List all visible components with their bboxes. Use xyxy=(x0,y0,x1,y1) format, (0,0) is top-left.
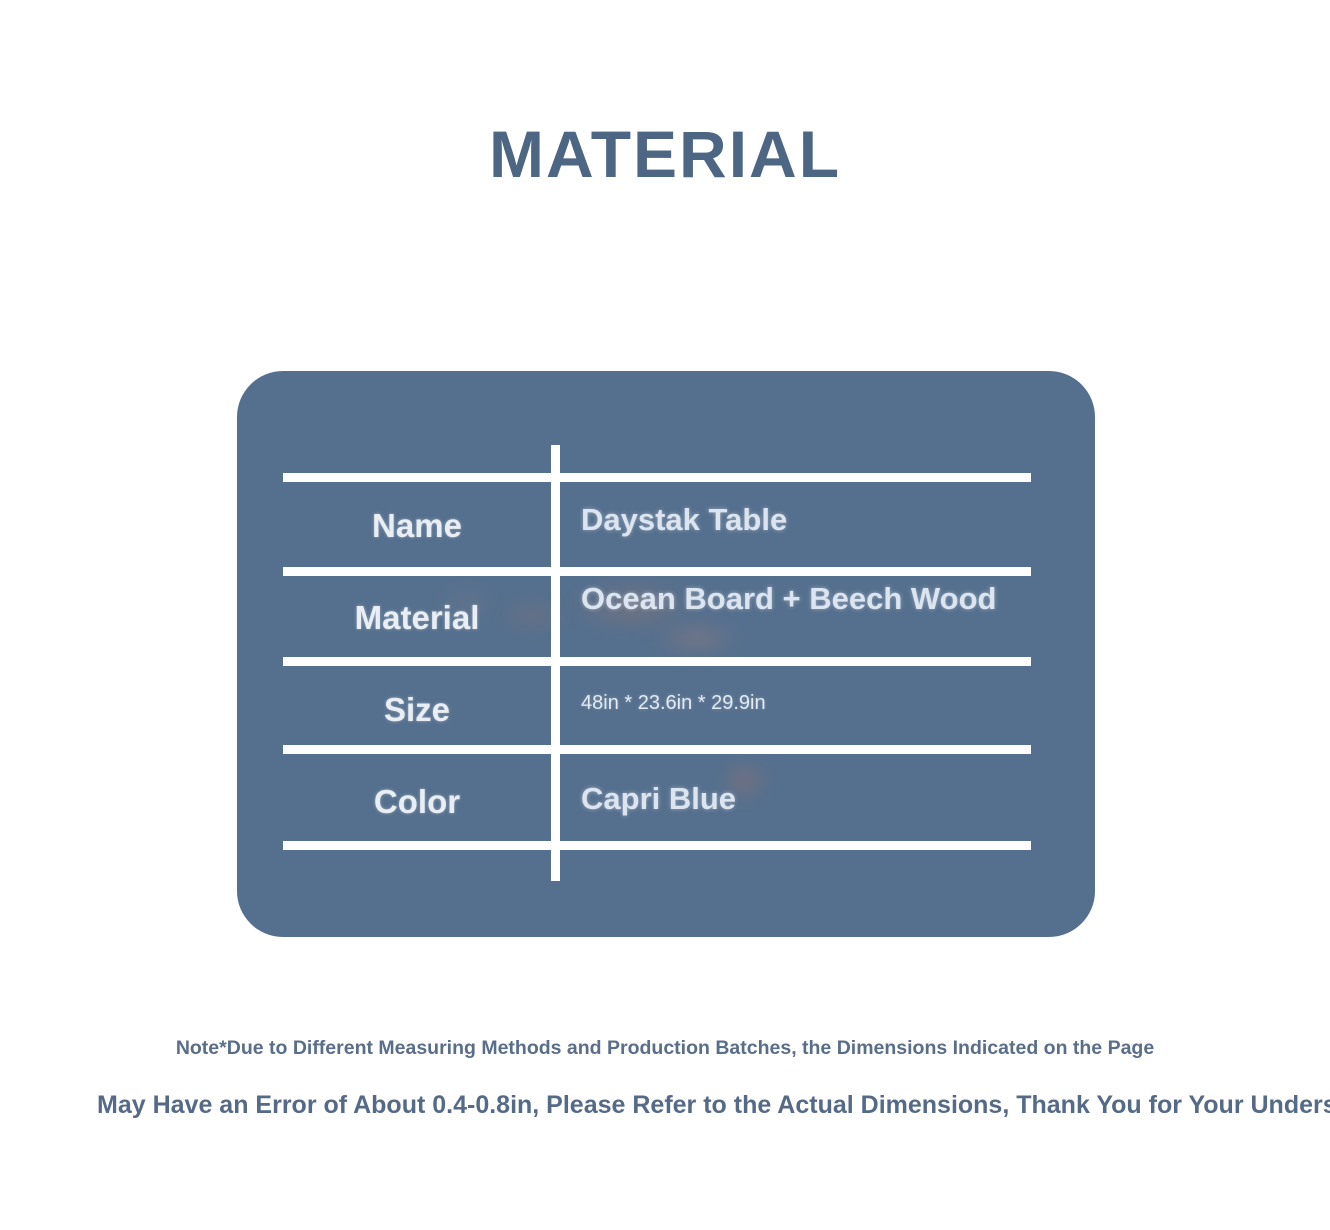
spec-row-value-material: Ocean Board + Beech Wood xyxy=(581,583,1051,614)
note-line-2: May Have an Error of About 0.4-0.8in, Pl… xyxy=(97,1091,1330,1120)
spec-row-label-name: Name xyxy=(283,507,551,545)
table-rule xyxy=(283,657,1031,666)
spec-card: Name Daystak Table Material Ocean Board … xyxy=(237,371,1095,937)
table-rule xyxy=(283,841,1031,850)
spec-row-label-material: Material xyxy=(283,599,551,637)
spec-row-value-color: Capri Blue xyxy=(581,783,1051,814)
spec-row-value-name: Daystak Table xyxy=(581,504,1051,535)
table-rule xyxy=(283,473,1031,482)
table-rule xyxy=(283,745,1031,754)
ghost-artifact xyxy=(652,616,742,661)
page-title: MATERIAL xyxy=(0,118,1330,191)
spec-row-label-size: Size xyxy=(283,691,551,729)
note-line-1: Note*Due to Different Measuring Methods … xyxy=(0,1037,1330,1060)
spec-row-value-size: 48in * 23.6in * 29.9in xyxy=(581,693,1051,713)
table-rule xyxy=(283,567,1031,576)
spec-row-label-color: Color xyxy=(283,783,551,821)
